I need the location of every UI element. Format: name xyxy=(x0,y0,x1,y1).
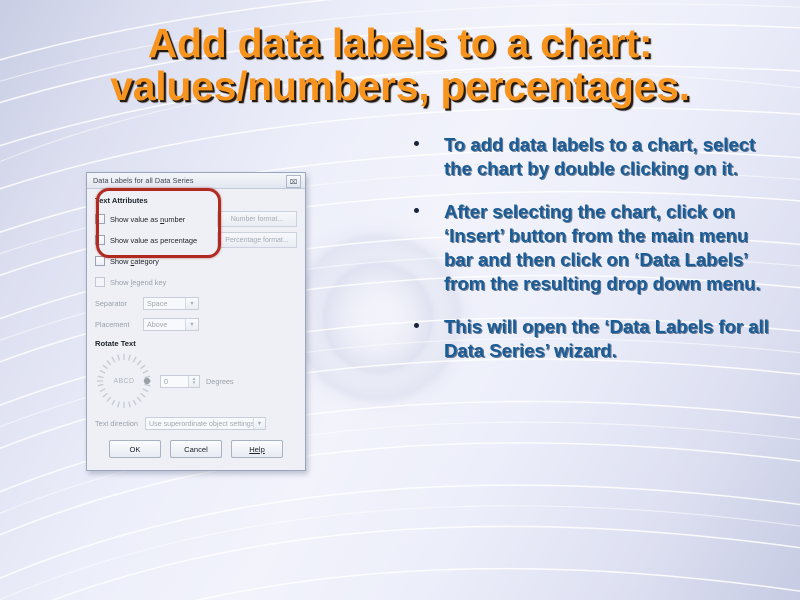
text-attributes-heading: Text Attributes xyxy=(95,196,297,205)
text-direction-dropdown: Use superordinate object settings ▼ xyxy=(145,417,266,430)
rotate-text-controls: ABCD 0 ▲▼ Degrees xyxy=(95,350,297,412)
checkbox-show-legend-key: Show legend key xyxy=(95,275,297,289)
checkbox-show-category[interactable]: Show category xyxy=(95,254,297,268)
text-direction-field: Text direction Use superordinate object … xyxy=(95,416,297,431)
rotation-dial: ABCD xyxy=(95,352,153,410)
dialog-title: Data Labels for all Data Series xyxy=(87,176,194,185)
checkbox-label: Show value as percentage xyxy=(110,236,197,245)
placement-dropdown: Above ▼ xyxy=(143,318,199,331)
slide-canvas: Add data labels to a chart: values/numbe… xyxy=(0,0,800,600)
bullet-list: To add data labels to a chart, select th… xyxy=(406,133,774,382)
ok-button[interactable]: OK xyxy=(109,440,161,458)
chevron-down-icon: ▼ xyxy=(253,418,265,429)
stepper-arrows-icon: ▲▼ xyxy=(188,376,199,387)
dialog-button-row: OK Cancel Help xyxy=(87,440,305,458)
separator-field: Separator Space ▼ xyxy=(95,296,297,311)
checkbox-label: Show category xyxy=(110,257,159,266)
checkbox-label: Show legend key xyxy=(110,278,166,287)
dialog-body: Text Attributes Show value as number Sho… xyxy=(87,189,305,470)
list-item: This will open the ‘Data Labels for all … xyxy=(406,315,774,363)
list-item: To add data labels to a chart, select th… xyxy=(406,133,774,181)
degrees-label: Degrees xyxy=(206,377,234,386)
degrees-stepper: 0 ▲▼ xyxy=(160,375,200,388)
text-direction-label: Text direction xyxy=(95,419,145,428)
bullet-dot-icon xyxy=(414,323,419,328)
placement-label: Placement xyxy=(95,320,143,329)
chevron-down-icon: ▼ xyxy=(185,319,198,330)
page-title: Add data labels to a chart: values/numbe… xyxy=(0,22,800,107)
close-icon[interactable]: ⌧ xyxy=(286,175,301,188)
checkbox-label: Show value as number xyxy=(110,215,185,224)
list-item-label: This will open the ‘Data Labels for all … xyxy=(444,316,769,361)
percentage-format-button: Percentage format... xyxy=(217,232,297,248)
list-item-label: After selecting the chart, click on ‘Ins… xyxy=(444,201,761,294)
help-button[interactable]: Help xyxy=(231,440,283,458)
separator-label: Separator xyxy=(95,299,143,308)
separator-dropdown: Space ▼ xyxy=(143,297,199,310)
checkbox-icon[interactable] xyxy=(95,256,105,266)
cancel-button[interactable]: Cancel xyxy=(170,440,222,458)
placement-field: Placement Above ▼ xyxy=(95,317,297,332)
bullet-dot-icon xyxy=(414,141,419,146)
separator-value: Space xyxy=(147,299,167,308)
text-direction-value: Use superordinate object settings xyxy=(149,420,254,428)
list-item-label: To add data labels to a chart, select th… xyxy=(444,134,755,179)
number-format-button: Number format... xyxy=(217,211,297,227)
bullet-dot-icon xyxy=(414,208,419,213)
degrees-value: 0 xyxy=(164,377,168,386)
dial-preview-label: ABCD xyxy=(95,352,153,410)
data-labels-dialog: Data Labels for all Data Series ⌧ Text A… xyxy=(86,172,306,471)
checkbox-icon xyxy=(95,277,105,287)
rotate-text-heading: Rotate Text xyxy=(95,339,297,348)
checkbox-icon[interactable] xyxy=(95,235,105,245)
placement-value: Above xyxy=(147,320,167,329)
chevron-down-icon: ▼ xyxy=(185,298,198,309)
list-item: After selecting the chart, click on ‘Ins… xyxy=(406,200,774,296)
dialog-titlebar: Data Labels for all Data Series ⌧ xyxy=(87,173,305,189)
checkbox-icon[interactable] xyxy=(95,214,105,224)
